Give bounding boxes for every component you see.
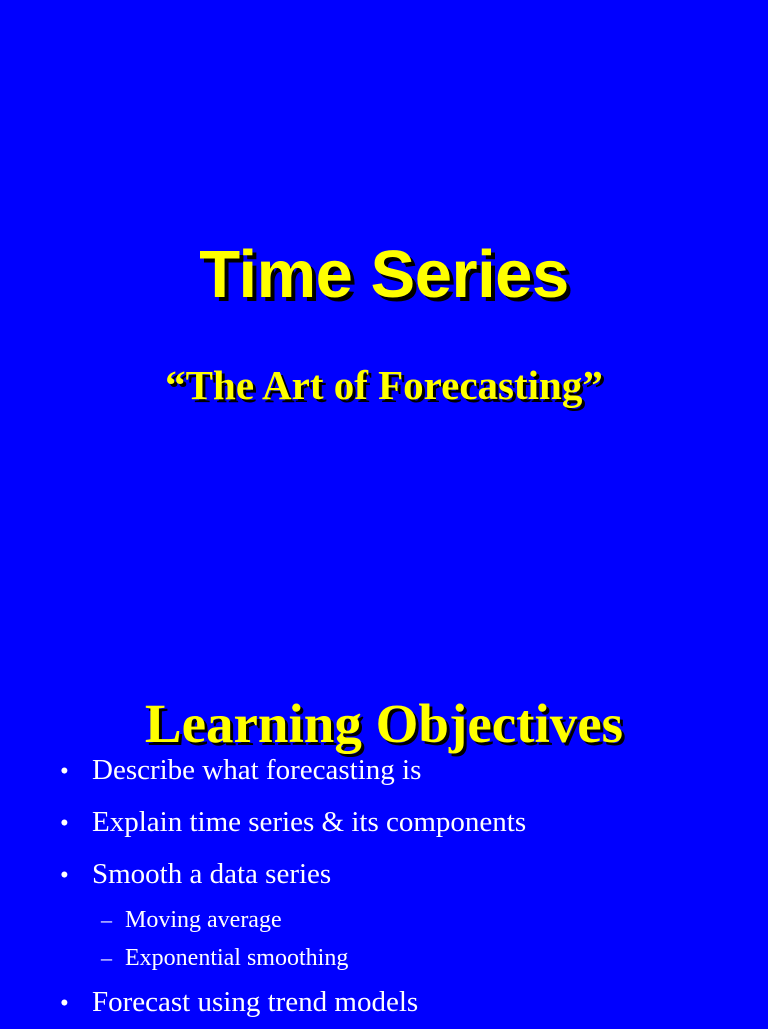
list-item-label: Smooth a data series (92, 849, 331, 899)
list-item: •Describe what forecasting is (0, 745, 768, 797)
bullet-dot-icon: • (60, 979, 92, 1029)
bullet-dash-icon: – (101, 939, 125, 977)
learning-objectives-list: •Describe what forecasting is•Explain ti… (0, 745, 768, 1029)
learning-objectives-heading: Learning Objectives (0, 695, 768, 753)
list-item-label: Exponential smoothing (125, 939, 348, 977)
page-title: Time Series (0, 241, 768, 309)
sub-list-item: –Exponential smoothing (0, 939, 768, 977)
list-item-label: Describe what forecasting is (92, 745, 421, 795)
bullet-dot-icon: • (60, 747, 92, 797)
bullet-dot-icon: • (60, 799, 92, 849)
slide-canvas: Time Series “The Art of Forecasting” Lea… (0, 0, 768, 1024)
title-slide: Time Series “The Art of Forecasting” (0, 0, 768, 640)
list-item: •Forecast using trend models (0, 977, 768, 1029)
page-subtitle: “The Art of Forecasting” (0, 364, 768, 407)
list-item-label: Forecast using trend models (92, 977, 418, 1027)
list-item-label: Moving average (125, 901, 282, 939)
list-item: •Smooth a data series (0, 849, 768, 901)
list-item: •Explain time series & its components (0, 797, 768, 849)
bullet-dash-icon: – (101, 901, 125, 939)
sub-list-item: –Moving average (0, 901, 768, 939)
bullet-dot-icon: • (60, 851, 92, 901)
list-item-label: Explain time series & its components (92, 797, 526, 847)
learning-objectives-slide: Learning Objectives •Describe what forec… (0, 640, 768, 1024)
